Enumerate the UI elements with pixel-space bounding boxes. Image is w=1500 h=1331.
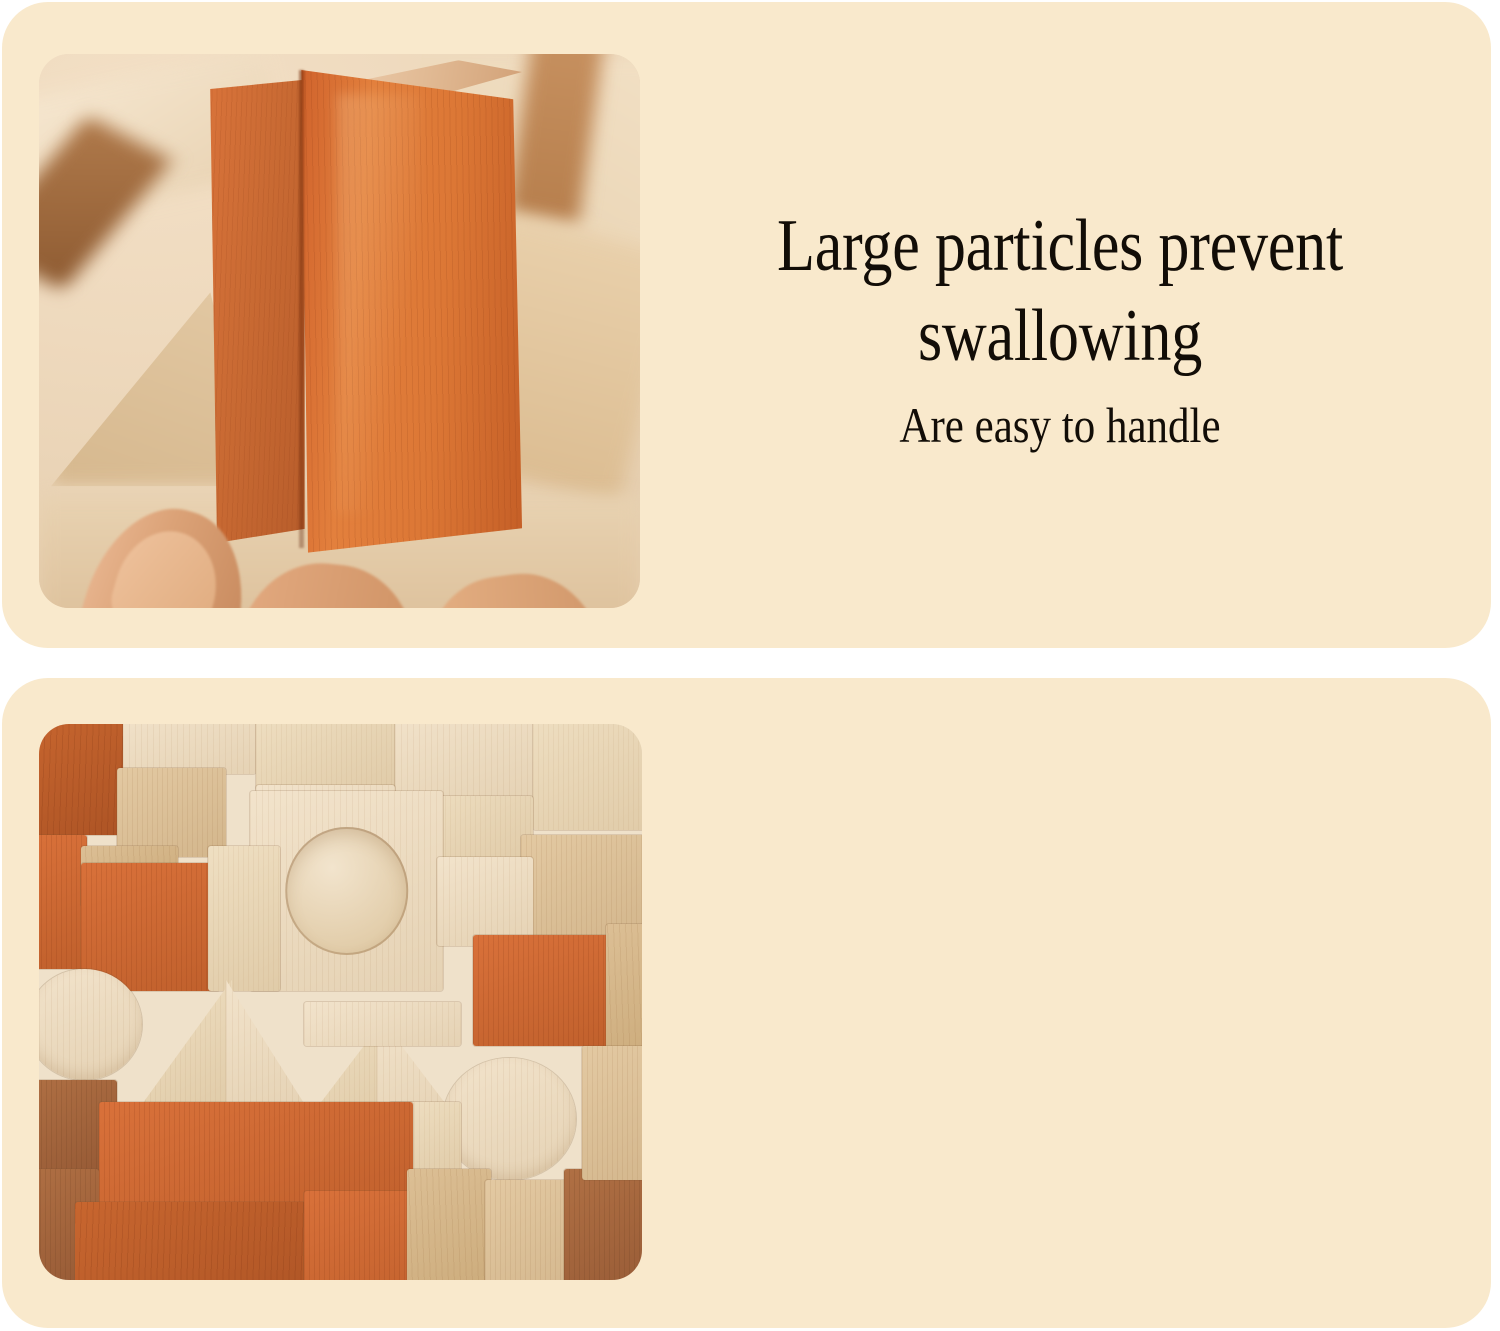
wooden-block	[39, 835, 87, 968]
wooden-block	[304, 1002, 461, 1046]
block-vertical-edge	[299, 70, 304, 548]
wooden-block	[437, 857, 533, 946]
wooden-block	[533, 724, 642, 830]
assorted-wooden-shapes-photo	[39, 724, 642, 1280]
wooden-block	[521, 835, 642, 935]
wooden-block	[75, 1202, 316, 1280]
wooden-block	[123, 724, 256, 774]
ring-block-hole	[285, 827, 408, 955]
feature-headline: Large particles prevent swallowing	[716, 202, 1405, 381]
wooden-block	[256, 724, 395, 791]
wooden-block	[582, 1046, 642, 1179]
feature-text-block: Large particles prevent swallowing Are e…	[650, 202, 1470, 455]
wooden-block	[473, 935, 618, 1046]
wooden-block	[564, 1169, 642, 1280]
wooden-block	[407, 1169, 491, 1280]
held-wooden-block	[207, 65, 532, 553]
infographic-page: Large particles prevent swallowing Are e…	[0, 0, 1500, 1331]
block-highlight	[337, 94, 421, 513]
wooden-block	[117, 768, 226, 857]
wooden-block	[39, 724, 123, 835]
feature-card-large-particles: Large particles prevent swallowing Are e…	[2, 2, 1491, 648]
wooden-block	[208, 846, 280, 991]
wooden-block	[485, 1180, 569, 1280]
wooden-cylinder	[443, 1058, 576, 1180]
feature-card-variety-of-shapes: A variety of shapes dark color combinati…	[2, 678, 1491, 1328]
hand-holding-wooden-block-photo	[39, 54, 640, 608]
block-left-face	[207, 80, 304, 543]
feature-subline: Are easy to handle	[707, 395, 1412, 455]
